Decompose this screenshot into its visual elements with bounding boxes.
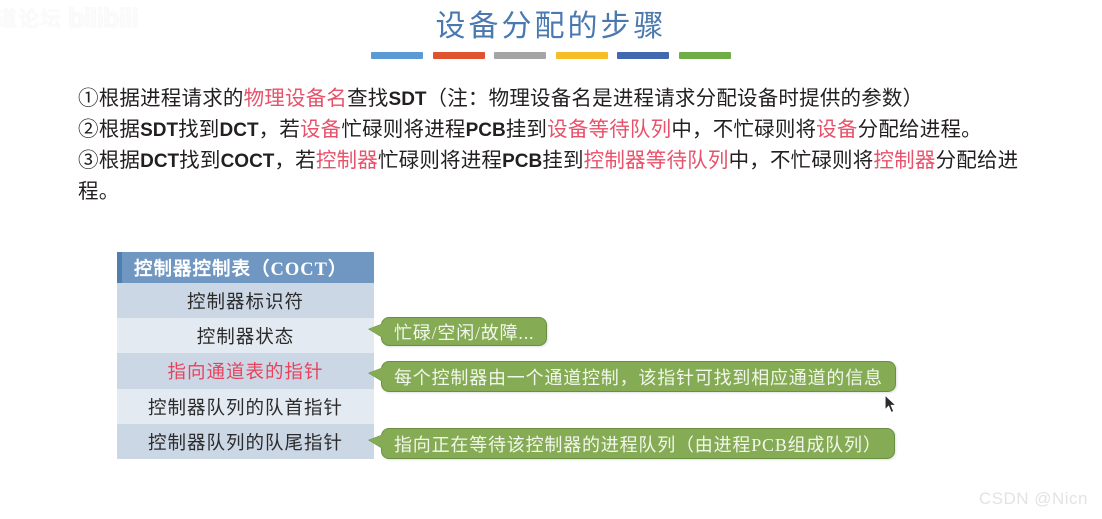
line2-latin-dct: DCT	[220, 120, 259, 141]
title-block: 设备分配的步骤	[0, 8, 1102, 59]
body-line-1: ①根据进程请求的物理设备名查找SDT（注：物理设备名是进程请求分配设备时提供的参…	[78, 84, 1038, 115]
coct-row-queue-head-pointer: 控制器队列的队首指针	[117, 389, 374, 424]
line3-highlight-controller-wait-queue: 控制器等待队列	[584, 150, 729, 172]
line1-mid1: 查找	[347, 88, 388, 110]
callout-channel-pointer: 每个控制器由一个通道控制，该指针可找到相应通道的信息	[381, 361, 896, 392]
body-text: ①根据进程请求的物理设备名查找SDT（注：物理设备名是进程请求分配设备时提供的参…	[78, 84, 1038, 208]
line3-mid1: 找到	[179, 150, 220, 172]
coct-row-controller-id: 控制器标识符	[117, 283, 374, 318]
coct-table: 控制器控制表（COCT） 控制器标识符 控制器状态 指向通道表的指针 控制器队列…	[117, 252, 374, 459]
callout-queue-tail-pointer-text: 指向正在等待该控制器的进程队列（由进程PCB组成队列）	[394, 431, 882, 457]
callout-tail-icon	[369, 435, 382, 448]
title-rule-segment-3	[494, 52, 546, 59]
title-rule-segment-2	[433, 52, 485, 59]
callout-queue-tail-pointer: 指向正在等待该控制器的进程队列（由进程PCB组成队列）	[381, 428, 895, 459]
line3-latin-dct: DCT	[140, 151, 179, 172]
title-rule-segment-1	[371, 52, 423, 59]
title-rule-segment-5	[617, 52, 669, 59]
line2-mid3: 忙碌则将进程	[341, 119, 465, 141]
line3-latin-coct: COCT	[221, 151, 275, 172]
line3-highlight-controller-2: 控制器	[873, 150, 935, 172]
line3-highlight-controller: 控制器	[316, 150, 378, 172]
callout-channel-pointer-text: 每个控制器由一个通道控制，该指针可找到相应通道的信息	[394, 364, 883, 390]
title-rule-segment-6	[679, 52, 731, 59]
line2-prefix: ②根据	[78, 119, 140, 141]
body-line-2: ②根据SDT找到DCT，若设备忙碌则将进程PCB挂到设备等待队列中，不忙碌则将设…	[78, 115, 1038, 146]
page-title: 设备分配的步骤	[0, 8, 1102, 46]
line2-latin-sdt: SDT	[140, 120, 178, 141]
coct-row-controller-status: 控制器状态	[117, 318, 374, 353]
line2-highlight-device: 设备	[300, 119, 341, 141]
line2-latin-pcb: PCB	[466, 120, 506, 141]
line2-mid2: ，若	[259, 119, 300, 141]
callout-tail-icon	[369, 368, 382, 381]
line3-mid5: 中，不忙碌则将	[729, 150, 874, 172]
coct-table-header: 控制器控制表（COCT）	[117, 252, 374, 283]
line3-mid3: 忙碌则将进程	[378, 150, 502, 172]
coct-row-channel-table-pointer: 指向通道表的指针	[117, 353, 374, 389]
line3-mid4: 挂到	[542, 150, 583, 172]
line1-suffix: （注：物理设备名是进程请求分配设备时提供的参数）	[427, 88, 924, 110]
line1-prefix: ①根据进程请求的	[78, 88, 244, 110]
callout-tail-icon	[369, 324, 382, 337]
line2-mid4: 挂到	[506, 119, 547, 141]
callout-controller-status: 忙碌/空闲/故障...	[381, 317, 547, 346]
line3-prefix: ③根据	[78, 150, 140, 172]
line3-latin-pcb: PCB	[502, 151, 542, 172]
line3-mid6: 分配	[936, 150, 977, 172]
csdn-watermark: CSDN @Nicn	[979, 489, 1088, 509]
title-rule-segment-4	[556, 52, 608, 59]
body-line-3: ③根据DCT找到COCT，若控制器忙碌则将进程PCB挂到控制器等待队列中，不忙碌…	[78, 146, 1038, 208]
line1-highlight-physical-device-name: 物理设备名	[244, 88, 348, 110]
line2-mid1: 找到	[178, 119, 219, 141]
line3-mid2: ，若	[274, 150, 315, 172]
line2-highlight-device-2: 设备	[816, 119, 857, 141]
line2-mid5: 中，不忙碌则将	[671, 119, 816, 141]
title-rule	[371, 52, 731, 59]
line2-suffix: 分配给进程。	[858, 119, 982, 141]
line1-latin-sdt: SDT	[389, 89, 427, 110]
coct-row-queue-tail-pointer: 控制器队列的队尾指针	[117, 424, 374, 459]
mouse-cursor-icon	[884, 394, 898, 414]
callout-controller-status-text: 忙碌/空闲/故障...	[394, 319, 534, 345]
line2-highlight-device-wait-queue: 设备等待队列	[547, 119, 671, 141]
